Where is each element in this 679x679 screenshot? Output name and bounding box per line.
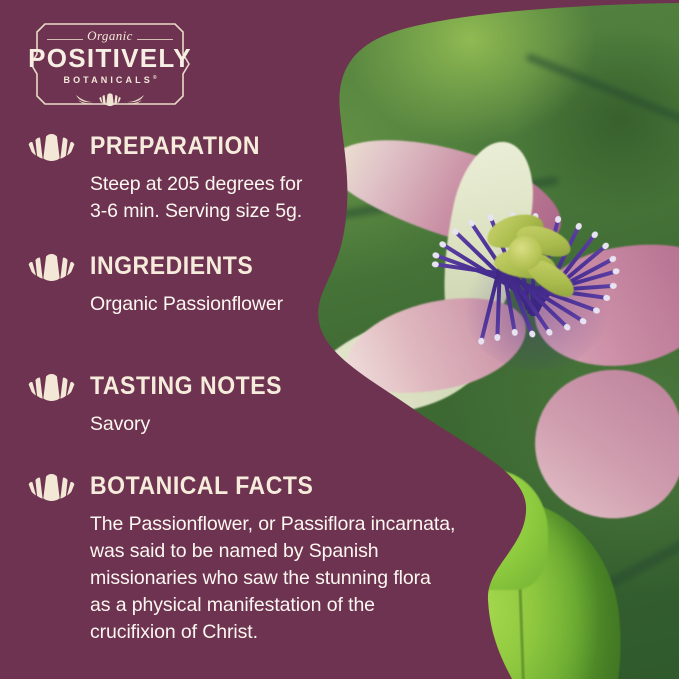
leaf-sprig-left-icon bbox=[74, 94, 94, 104]
logo-organic-text: Organic bbox=[27, 28, 193, 44]
section-title-tasting-notes: TASTING NOTES bbox=[90, 372, 282, 401]
section-heading: PREPARATION bbox=[27, 129, 302, 163]
logo-brand-subtitle: BOTANICALS® bbox=[27, 75, 193, 85]
logo-ornament bbox=[27, 92, 193, 106]
section-ingredients: INGREDIENTS Organic Passionflower bbox=[27, 249, 283, 318]
fan-shell-icon bbox=[27, 471, 76, 501]
section-botanical-facts: BOTANICAL FACTS The Passionflower, or Pa… bbox=[27, 469, 455, 646]
section-tasting-notes: TASTING NOTES Savory bbox=[27, 369, 299, 438]
card-content: Organic POSITIVELY BOTANICALS® bbox=[0, 0, 679, 679]
fan-shell-icon bbox=[98, 92, 122, 106]
section-title-preparation: PREPARATION bbox=[90, 132, 260, 161]
logo-brand-name: POSITIVELY bbox=[27, 45, 193, 71]
brand-logo[interactable]: Organic POSITIVELY BOTANICALS® bbox=[27, 18, 193, 110]
section-body-ingredients: Organic Passionflower bbox=[90, 291, 283, 318]
registered-mark: ® bbox=[153, 75, 157, 81]
section-body-tasting-notes: Savory bbox=[90, 411, 299, 438]
section-title-botanical-facts: BOTANICAL FACTS bbox=[90, 472, 313, 501]
section-body-preparation: Steep at 205 degrees for 3-6 min. Servin… bbox=[90, 171, 302, 225]
section-body-botanical-facts: The Passionflower, or Passiflora incarna… bbox=[90, 511, 455, 646]
section-preparation: PREPARATION Steep at 205 degrees for 3-6… bbox=[27, 129, 302, 225]
section-heading: BOTANICAL FACTS bbox=[27, 469, 455, 503]
leaf-sprig-right-icon bbox=[126, 94, 146, 104]
fan-shell-icon bbox=[27, 251, 76, 281]
fan-shell-icon bbox=[27, 371, 76, 401]
fan-shell-icon bbox=[27, 131, 76, 161]
section-heading: INGREDIENTS bbox=[27, 249, 283, 283]
section-title-ingredients: INGREDIENTS bbox=[90, 252, 253, 281]
logo-subtitle-text: BOTANICALS bbox=[63, 75, 152, 85]
section-heading: TASTING NOTES bbox=[27, 369, 299, 403]
product-info-card: Organic POSITIVELY BOTANICALS® bbox=[0, 0, 679, 679]
